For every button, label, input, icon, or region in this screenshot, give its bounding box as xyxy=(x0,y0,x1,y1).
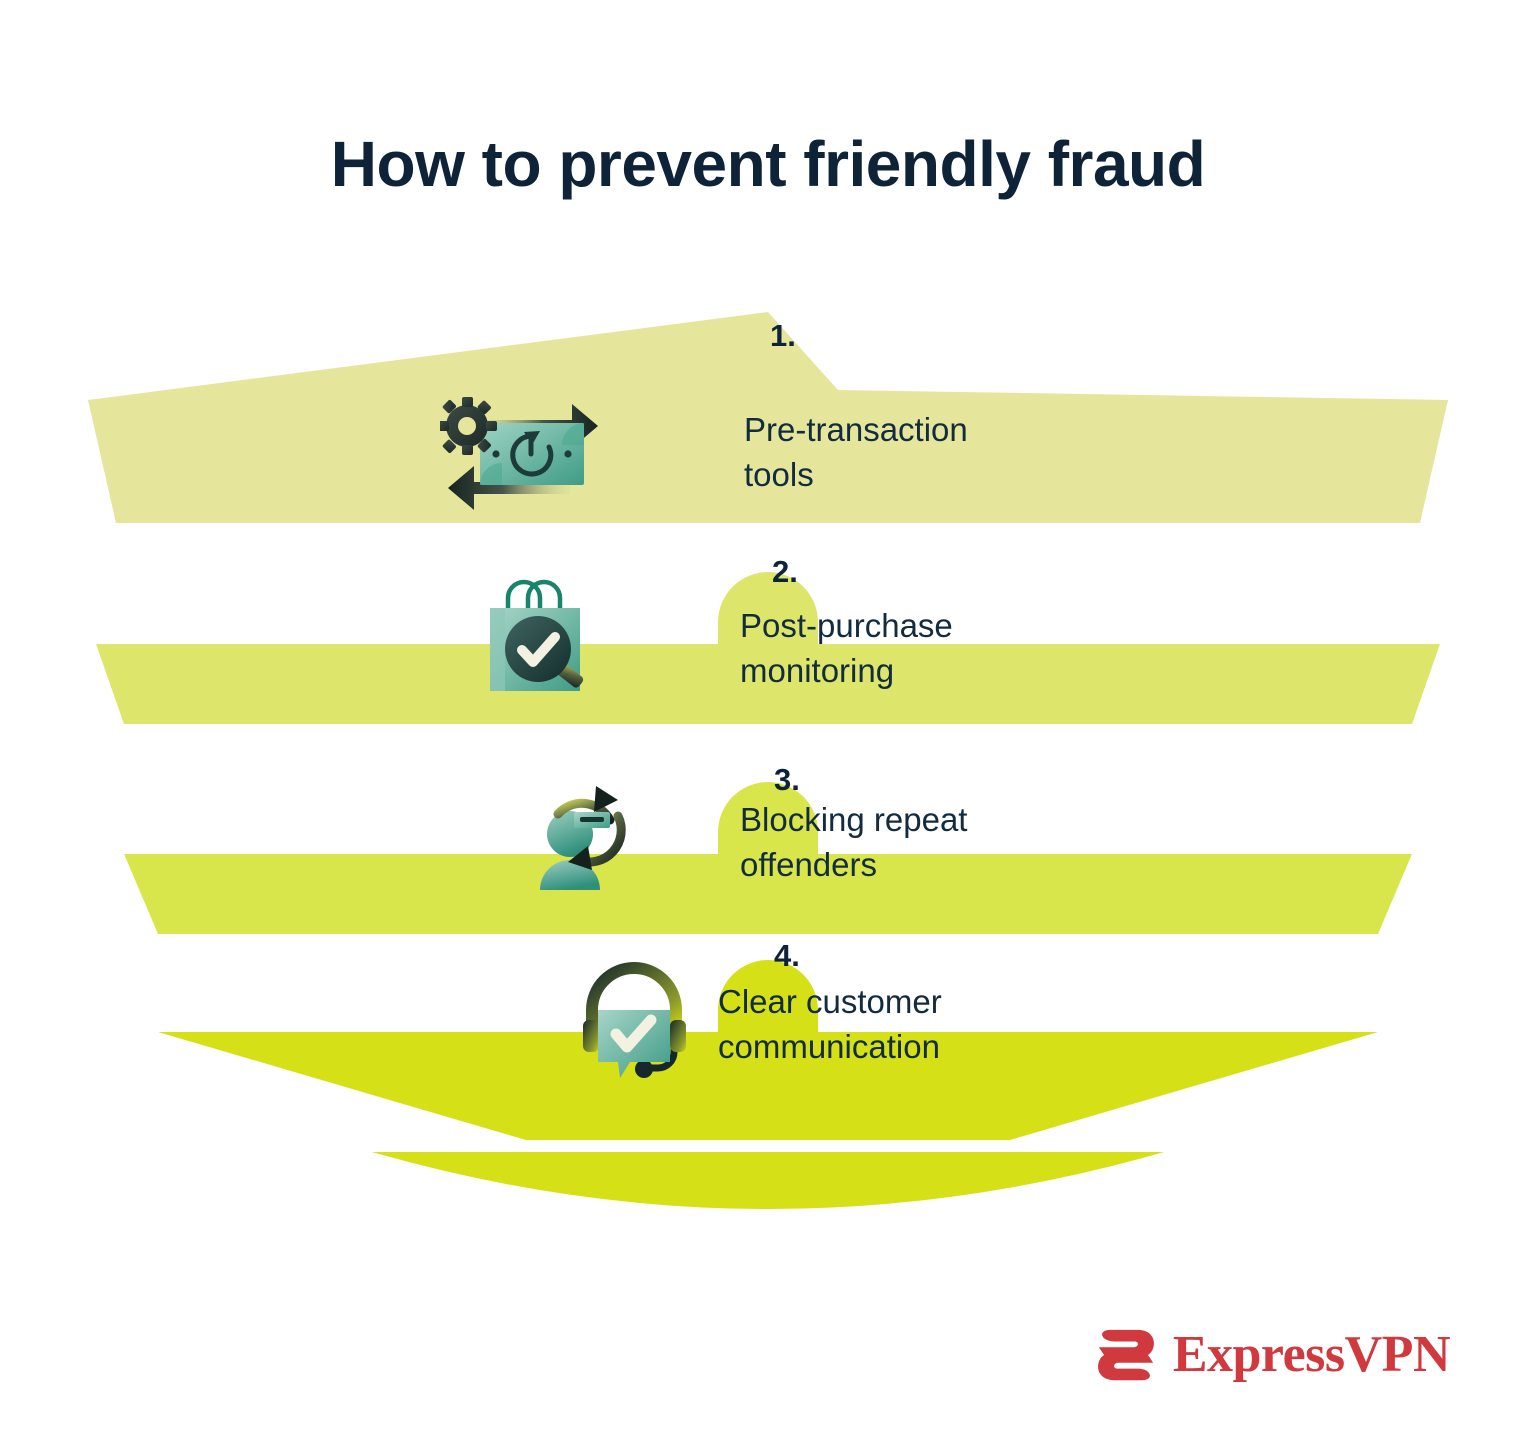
step-2-number: 2. xyxy=(772,556,798,587)
brand-name: ExpressVPN xyxy=(1173,1329,1450,1381)
step-4-label: Clear customer communication xyxy=(718,980,1138,1069)
funnel-diagram: 1. Pre-transaction tools xyxy=(0,280,1536,1210)
step-1-number: 1. xyxy=(770,320,796,351)
shopping-bag-magnifier-check-icon xyxy=(482,576,606,694)
page-title: How to prevent friendly fraud xyxy=(0,129,1536,199)
headset-chat-check-icon xyxy=(578,958,696,1088)
step-3-number: 3. xyxy=(774,764,800,795)
user-block-repeat-icon xyxy=(530,770,646,890)
step-4-number: 4. xyxy=(774,940,800,971)
expressvpn-logo-mark xyxy=(1095,1324,1157,1386)
funnel-tip xyxy=(372,1152,1164,1209)
step-3-label: Blocking repeat offenders xyxy=(740,798,1130,887)
step-1-label: Pre-transaction tools xyxy=(744,408,1104,497)
step-2-label: Post-purchase monitoring xyxy=(740,604,1120,693)
infographic-page: How to prevent friendly fraud xyxy=(0,0,1536,1454)
expressvpn-logo[interactable]: ExpressVPN xyxy=(1095,1324,1450,1386)
money-refund-gear-icon xyxy=(440,390,605,515)
